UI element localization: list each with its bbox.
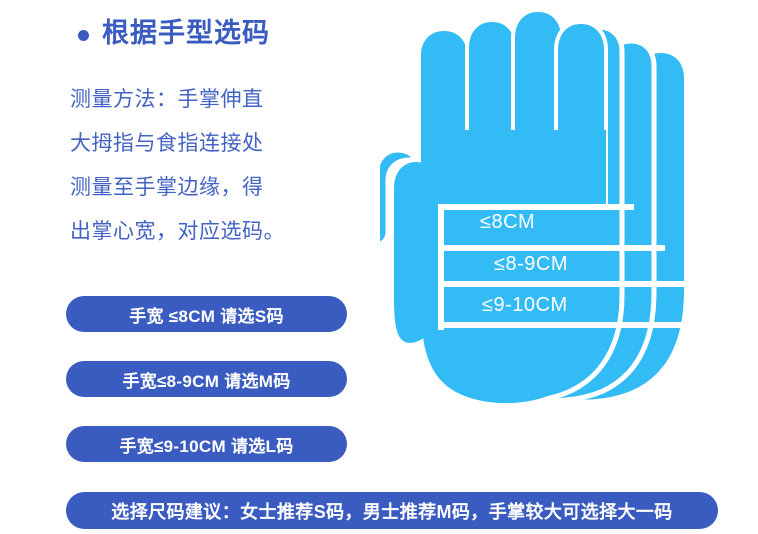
instruction-line: 出掌心宽，对应选码。 bbox=[70, 210, 370, 254]
measurement-label-s: ≤8CM bbox=[480, 211, 535, 234]
instruction-line: 测量至手掌边缘，得 bbox=[70, 166, 370, 210]
measurement-label-m: ≤8-9CM bbox=[494, 253, 568, 276]
instruction-line: 大拇指与食指连接处 bbox=[70, 122, 370, 166]
three-hands-size-diagram bbox=[380, 0, 758, 470]
size-guide-page: 根据手型选码 测量方法：手掌伸直 大拇指与食指连接处 测量至手掌边缘，得 出掌心… bbox=[0, 0, 758, 534]
instruction-line: 测量方法：手掌伸直 bbox=[70, 78, 370, 122]
size-option-s[interactable]: 手宽 ≤8CM 请选S码 bbox=[66, 296, 347, 332]
size-option-m[interactable]: 手宽≤8-9CM 请选M码 bbox=[66, 361, 347, 397]
instructions-block: 测量方法：手掌伸直 大拇指与食指连接处 测量至手掌边缘，得 出掌心宽，对应选码。 bbox=[70, 78, 370, 254]
measurement-label-l: ≤9-10CM bbox=[482, 294, 568, 317]
size-option-label: 手宽 ≤8CM 请选S码 bbox=[129, 302, 284, 327]
size-option-label: 手宽≤8-9CM 请选M码 bbox=[122, 367, 290, 392]
size-recommendation-bar: 选择尺码建议：女士推荐S码，男士推荐M码，手掌较大可选择大一码 bbox=[66, 492, 718, 529]
page-heading: 根据手型选码 bbox=[78, 20, 270, 47]
size-recommendation-text: 选择尺码建议：女士推荐S码，男士推荐M码，手掌较大可选择大一码 bbox=[111, 498, 672, 524]
page-title: 根据手型选码 bbox=[102, 20, 270, 47]
size-option-l[interactable]: 手宽≤9-10CM 请选L码 bbox=[66, 426, 347, 462]
bullet-dot-icon bbox=[78, 30, 89, 41]
size-option-label: 手宽≤9-10CM 请选L码 bbox=[119, 432, 293, 457]
